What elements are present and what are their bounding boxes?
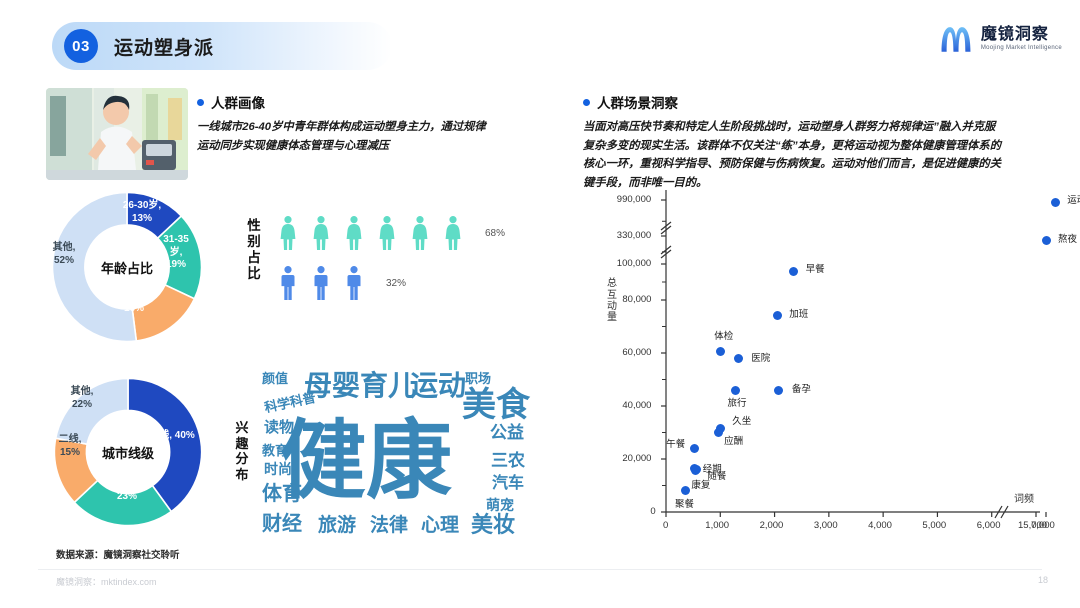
y-tick-label: 330,000 xyxy=(617,230,651,241)
footer-divider xyxy=(38,569,1042,570)
logo-text-cn: 魔镜洞察 xyxy=(981,27,1062,44)
donut-slice-label: 二线,15% xyxy=(50,434,90,459)
logo-m-icon xyxy=(939,24,973,54)
x-axis-title: 词频 xyxy=(1014,490,1034,505)
wordcloud-word: 运动 xyxy=(410,372,466,400)
section-header: 03 运动塑身派 xyxy=(52,22,392,70)
scatter-point-label: 医院 xyxy=(751,350,770,364)
scatter-point-label: 康复 xyxy=(691,477,710,491)
scatter-point[interactable] xyxy=(789,267,798,276)
donut-slice-label: 其他,52% xyxy=(44,242,84,267)
gender-female-row: 68% xyxy=(278,216,505,250)
female-icon xyxy=(278,216,298,250)
wordcloud-word: 体育 xyxy=(262,484,302,504)
scatter-point-label: 午餐 xyxy=(666,436,685,450)
city-donut-chart: 城市线级 一线, 40%新一线23%二线,15%其他,22% xyxy=(48,372,208,532)
gender-percent: 68% xyxy=(485,228,505,239)
bullet-dot-icon xyxy=(197,99,204,106)
wordcloud-word: 读物 xyxy=(264,420,294,435)
y-tick-label: 990,000 xyxy=(617,194,651,205)
donut-slice-label: 26-30岁,13% xyxy=(116,200,168,225)
gender-percent: 32% xyxy=(386,278,406,289)
y-tick-label: 100,000 xyxy=(617,258,651,269)
scene-heading: 人群场景洞察 xyxy=(583,92,1003,112)
female-icon xyxy=(443,216,463,250)
x-tick-label: 6,000 xyxy=(977,520,1001,531)
x-tick-label: 5,000 xyxy=(922,520,946,531)
y-tick-label: 40,000 xyxy=(622,400,651,411)
scatter-point-label: 熬夜 xyxy=(1058,231,1077,245)
x-tick-label: 3,000 xyxy=(814,520,838,531)
wordcloud-word: 心理 xyxy=(421,516,459,535)
bullet-dot-icon xyxy=(583,99,590,106)
scatter-point[interactable] xyxy=(731,386,740,395)
wordcloud-word: 母婴育儿 xyxy=(304,372,416,400)
scatter-point[interactable] xyxy=(681,486,690,495)
persona-image xyxy=(46,88,188,180)
wordcloud-word: 法律 xyxy=(370,516,408,535)
wordcloud-word: 汽车 xyxy=(492,476,524,492)
female-icon xyxy=(311,216,331,250)
gender-male-row: 32% xyxy=(278,266,406,300)
x-tick-label: 4,000 xyxy=(868,520,892,531)
scatter-point-label: 旅行 xyxy=(727,395,746,409)
y-axis-title: 总互动量 xyxy=(606,278,618,323)
wordcloud-word: 美妆 xyxy=(471,514,515,536)
wordcloud: 健康母婴育儿运动美食颜值科学科普读物教育时尚体育财经旅游法律心理美妆职场公益三农… xyxy=(258,366,554,554)
scatter-svg xyxy=(600,182,1048,552)
page-number: 18 xyxy=(1038,575,1048,585)
scatter-point[interactable] xyxy=(1051,198,1060,207)
x-tick-label: 0 xyxy=(663,520,668,531)
wordcloud-word: 旅游 xyxy=(318,516,356,535)
wordcloud-title: 兴趣分布 xyxy=(232,420,252,482)
y-tick-label: 80,000 xyxy=(622,294,651,305)
gender-title: 性别占比 xyxy=(243,218,265,282)
persona-body: 一线城市26-40岁中青年群体构成运动塑身主力，通过规律运动同步实现健康体态管理… xyxy=(197,118,493,155)
age-donut-chart: 年龄占比 26-30岁,13%31-35岁,19%21-25岁,16%其他,52… xyxy=(46,186,208,348)
male-icon xyxy=(311,266,331,300)
y-tick-label: 20,000 xyxy=(622,453,651,464)
scatter-point-label: 早餐 xyxy=(806,261,825,275)
wordcloud-word: 公益 xyxy=(490,424,524,441)
wordcloud-word: 颜值 xyxy=(262,372,288,385)
scatter-point-label: 加班 xyxy=(789,306,808,320)
slide: 03 运动塑身派 魔镜洞察 Moojing Market Intelligenc… xyxy=(0,0,1080,608)
persona-block: 人群画像 一线城市26-40岁中青年群体构成运动塑身主力，通过规律运动同步实现健… xyxy=(197,92,497,155)
male-icon xyxy=(278,266,298,300)
scene-heading-label: 人群场景洞察 xyxy=(597,92,678,112)
wordcloud-word: 财经 xyxy=(262,514,302,534)
runner-illustration-icon xyxy=(46,88,188,180)
x-tick-label: 2,000 xyxy=(760,520,784,531)
scatter-point[interactable] xyxy=(1042,236,1051,245)
persona-heading: 人群画像 xyxy=(197,92,497,112)
donut-slice-label: 其他,22% xyxy=(60,386,104,411)
footer-brand: 魔镜洞察：mktindex.com xyxy=(56,575,157,588)
donut-slice-label: 新一线23% xyxy=(98,478,156,503)
donut-slice-label: 21-25岁,16% xyxy=(106,290,162,315)
scatter-point[interactable] xyxy=(714,428,723,437)
scatter-point-label: 聚餐 xyxy=(675,496,694,510)
scatter-point-label: 久坐 xyxy=(732,413,751,427)
logo-text-en: Moojing Market Intelligence xyxy=(981,45,1062,51)
wordcloud-word: 科学科普 xyxy=(263,391,317,415)
scatter-point-label: 体检 xyxy=(714,328,733,342)
scatter-point[interactable] xyxy=(774,386,783,395)
wordcloud-word: 职场 xyxy=(465,372,491,385)
wordcloud-word: 健康 xyxy=(280,418,452,504)
scatter-chart: 020,00040,00060,00080,000100,000330,0009… xyxy=(600,182,1048,552)
page-title: 运动塑身派 xyxy=(114,33,214,60)
donut-slice-label: 31-35岁,19% xyxy=(154,234,198,272)
wordcloud-word: 时尚 xyxy=(264,462,292,476)
donut-slice-label: 一线, 40% xyxy=(140,430,204,443)
data-source: 数据来源：魔镜洞察社交聆听 xyxy=(56,547,180,561)
wordcloud-word: 美食 xyxy=(462,388,530,422)
x-tick-label: 15,000 xyxy=(1018,520,1047,531)
persona-heading-label: 人群画像 xyxy=(211,92,265,112)
scatter-point[interactable] xyxy=(690,444,699,453)
x-tick-label: 1,000 xyxy=(705,520,729,531)
y-tick-label: 60,000 xyxy=(622,347,651,358)
wordcloud-word: 三农 xyxy=(491,452,525,469)
y-tick-label: 0 xyxy=(650,506,655,517)
female-icon xyxy=(410,216,430,250)
brand-logo: 魔镜洞察 Moojing Market Intelligence xyxy=(939,24,1062,54)
female-icon xyxy=(344,216,364,250)
section-number: 03 xyxy=(64,29,98,63)
scene-block: 人群场景洞察 当面对高压快节奏和特定人生阶段挑战时，运动塑身人群努力将规律运”融… xyxy=(583,92,1003,193)
male-icon xyxy=(344,266,364,300)
scatter-point-label: 应酬 xyxy=(724,433,743,447)
female-icon xyxy=(377,216,397,250)
wordcloud-word: 萌宠 xyxy=(486,498,514,512)
scatter-point[interactable] xyxy=(734,354,743,363)
scatter-point-label: 备孕 xyxy=(792,381,811,395)
scatter-point-label: 运动 xyxy=(1067,192,1080,206)
scatter-point[interactable] xyxy=(716,347,725,356)
wordcloud-word: 教育 xyxy=(262,444,288,457)
